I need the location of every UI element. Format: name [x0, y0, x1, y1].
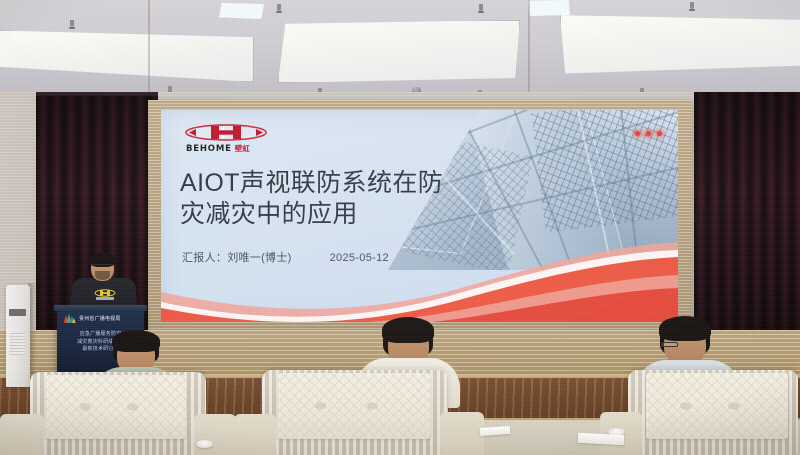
chair-armrest: [234, 414, 276, 455]
ceiling-led-strip: [528, 0, 570, 16]
chair-armrest: [194, 414, 236, 455]
ceiling-led-strip: [219, 3, 264, 19]
behome-mark-icon: [185, 123, 267, 142]
slide-wave-graphic: [161, 230, 678, 322]
chair-doily: [46, 375, 186, 439]
audience-hair-top: [659, 316, 711, 341]
slide-subtitle: 汇报人：刘唯一(博士) 2025-05-12: [182, 249, 389, 265]
indicator-light-icon: [635, 131, 640, 136]
presenter-glasses-icon: [91, 264, 114, 269]
slide-title-line-2: 灾减灾中的应用: [180, 199, 480, 230]
indicator-light-icon: [657, 131, 662, 136]
slide-date: 2025-05-12: [330, 252, 389, 264]
sprinkler-head: [70, 20, 74, 27]
ceiling-light-panel: [0, 30, 254, 82]
screen-indicator-lights: [635, 131, 662, 136]
air-conditioner-unit: [6, 285, 30, 387]
sprinkler-head: [277, 4, 281, 11]
chair-armrest: [440, 412, 484, 455]
doily-lace-pattern: [46, 375, 186, 439]
ceiling-seam: [528, 0, 530, 92]
ceiling-light-panel: [560, 14, 800, 76]
presenter-beard: [95, 271, 110, 280]
sprinkler-head: [479, 4, 483, 11]
tea-cup: [196, 440, 213, 448]
presenter-shirt-logo-icon: [93, 289, 117, 301]
audience-hair-top: [112, 330, 160, 352]
ceiling-light-panel: [278, 20, 520, 83]
podium-org-name: 贵州省广播电视局: [79, 314, 121, 321]
chair-doily: [646, 373, 788, 439]
slide-title-line-1: AIOT声视联防系统在防: [180, 168, 480, 199]
broadcast-bureau-logo-icon: [63, 313, 76, 323]
slide-title: AIOT声视联防系统在防 灾减灾中的应用: [180, 168, 480, 230]
ac-grill: [10, 333, 25, 355]
audience-glasses-icon: [661, 342, 678, 347]
presentation-slide[interactable]: BEHOME 壁虹 AIOT声视联防系统在防 灾减灾中的应用 汇报人：刘唯一(博…: [161, 110, 678, 322]
slide-brand-logo: BEHOME 壁虹: [185, 123, 267, 156]
brand-chinese-name: 壁虹: [235, 143, 250, 154]
chair-armrest: [0, 414, 44, 455]
slide-presenter: 汇报人：刘唯一(博士): [182, 249, 292, 265]
indicator-light-icon: [646, 131, 651, 136]
sprinkler-head: [690, 2, 694, 9]
audience-hair-top: [382, 317, 434, 343]
ceiling: [0, 0, 800, 100]
podium-org-banner: 贵州省广播电视局: [61, 311, 140, 325]
chair-doily: [278, 373, 430, 439]
ac-vent-icon: [9, 309, 26, 316]
doily-lace-pattern: [278, 373, 430, 439]
ceiling-seam: [148, 0, 150, 92]
conference-room-photo: BEHOME 壁虹 AIOT声视联防系统在防 灾减灾中的应用 汇报人：刘唯一(博…: [0, 0, 800, 455]
doily-lace-pattern: [646, 373, 788, 439]
brand-latin-name: BEHOME: [186, 144, 232, 154]
